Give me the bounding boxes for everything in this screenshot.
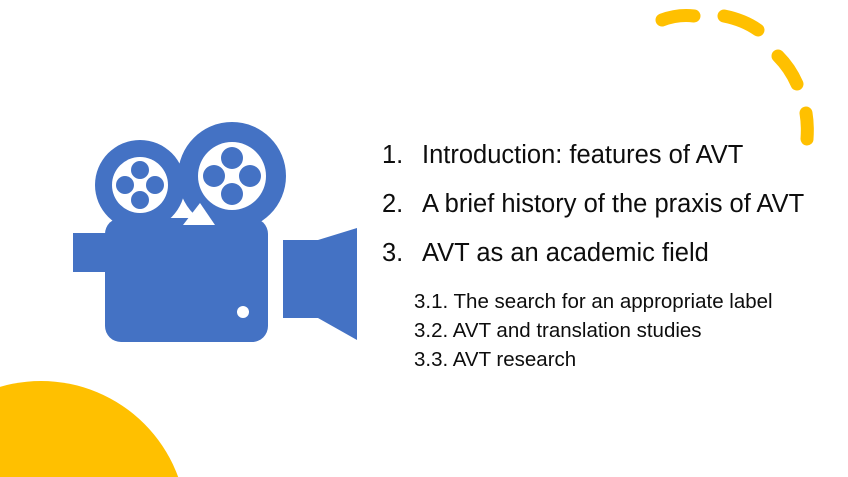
- arc-segment-4: [806, 113, 807, 139]
- agenda-item-1-label: Introduction: features of AVT: [422, 141, 743, 170]
- agenda-list: 1. Introduction: features of AVT 2. A br…: [382, 141, 834, 374]
- agenda-item-3-label: AVT as an academic field: [422, 239, 709, 268]
- agenda-item-3-number: 3.: [382, 239, 422, 268]
- left-reel-dot-bottom: [131, 191, 149, 209]
- agenda-item-1-number: 1.: [382, 141, 422, 170]
- agenda-subitem-3-3: 3.3. AVT research: [414, 346, 834, 375]
- agenda-item-2-number: 2.: [382, 190, 422, 219]
- agenda-subitem-3-2: 3.2. AVT and translation studies: [414, 317, 834, 346]
- left-reel-dot-top: [131, 161, 149, 179]
- agenda-item-2: 2. A brief history of the praxis of AVT: [382, 190, 834, 219]
- viewfinder: [73, 233, 107, 272]
- agenda-item-2-label: A brief history of the praxis of AVT: [422, 190, 804, 219]
- left-reel-dot-right: [146, 176, 164, 194]
- left-reel-dot-left: [116, 176, 134, 194]
- movie-camera-icon: [55, 105, 375, 355]
- quarter-circle-decoration: [0, 381, 187, 477]
- arc-segment-1: [662, 16, 694, 21]
- camera-body: [105, 218, 268, 342]
- right-reel-dot-left: [203, 165, 225, 187]
- arc-segment-3: [778, 56, 797, 84]
- right-reel-dot-top: [221, 147, 243, 169]
- agenda-subitem-3-1: 3.1. The search for an appropriate label: [414, 288, 834, 317]
- presentation-slide: 1. Introduction: features of AVT 2. A br…: [0, 0, 848, 477]
- arc-segment-2: [724, 16, 758, 30]
- right-reel-dot-right: [239, 165, 261, 187]
- lens: [283, 228, 357, 340]
- agenda-item-3: 3. AVT as an academic field: [382, 239, 834, 268]
- agenda-item-1: 1. Introduction: features of AVT: [382, 141, 834, 170]
- record-dot: [237, 306, 249, 318]
- agenda-subitem-list: 3.1. The search for an appropriate label…: [382, 288, 834, 374]
- right-reel-dot-bottom: [221, 183, 243, 205]
